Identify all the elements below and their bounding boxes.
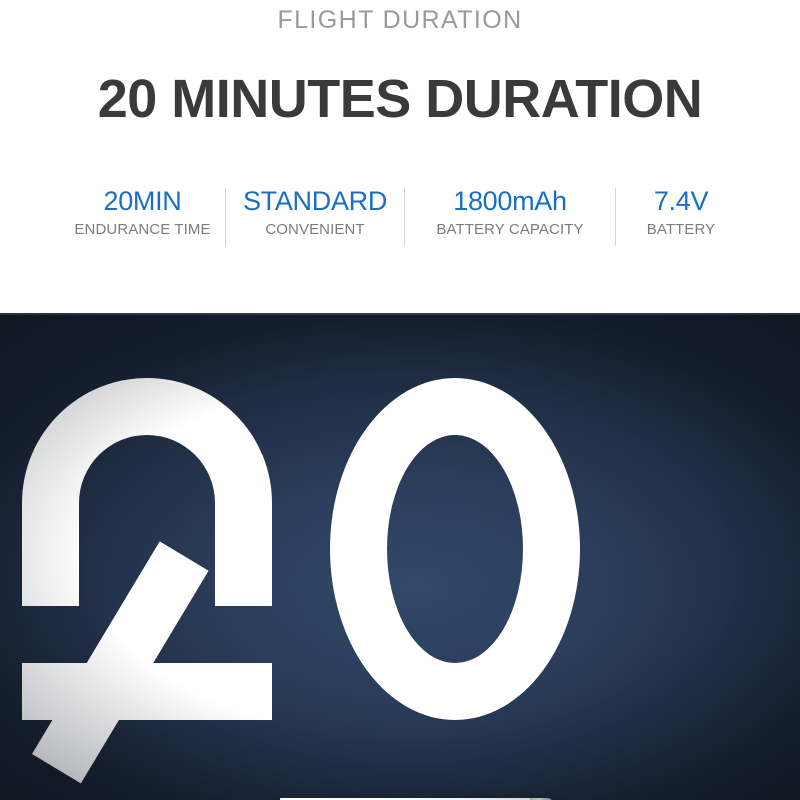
spec-value: STANDARD bbox=[232, 186, 398, 217]
spec-row: 20MIN ENDURANCE TIME STANDARD CONVENIENT… bbox=[60, 186, 750, 256]
eyebrow-text: FLIGHT DURATION bbox=[0, 6, 800, 35]
page-title: 20 MINUTES DURATION bbox=[0, 68, 800, 130]
spec-item-endurance-time: 20MIN ENDURANCE TIME bbox=[60, 186, 225, 239]
spec-label: ENDURANCE TIME bbox=[66, 221, 219, 239]
hero-panel: minutes Z The high energy density lithiu… bbox=[0, 313, 800, 800]
spec-value: 20MIN bbox=[66, 186, 219, 217]
spec-item-battery-voltage: 7.4V BATTERY bbox=[616, 186, 746, 239]
panel-vignette bbox=[0, 313, 800, 800]
spec-item-battery-capacity: 1800mAh BATTERY CAPACITY bbox=[405, 186, 615, 239]
spec-label: CONVENIENT bbox=[232, 221, 398, 239]
spec-label: BATTERY CAPACITY bbox=[411, 221, 609, 239]
spec-item-convenient: STANDARD CONVENIENT bbox=[226, 186, 404, 239]
spec-value: 1800mAh bbox=[411, 186, 609, 217]
spec-label: BATTERY bbox=[622, 221, 740, 239]
product-banner: FLIGHT DURATION 20 MINUTES DURATION 20MI… bbox=[0, 0, 800, 800]
header-section: FLIGHT DURATION 20 MINUTES DURATION 20MI… bbox=[0, 0, 800, 313]
spec-value: 7.4V bbox=[622, 186, 740, 217]
